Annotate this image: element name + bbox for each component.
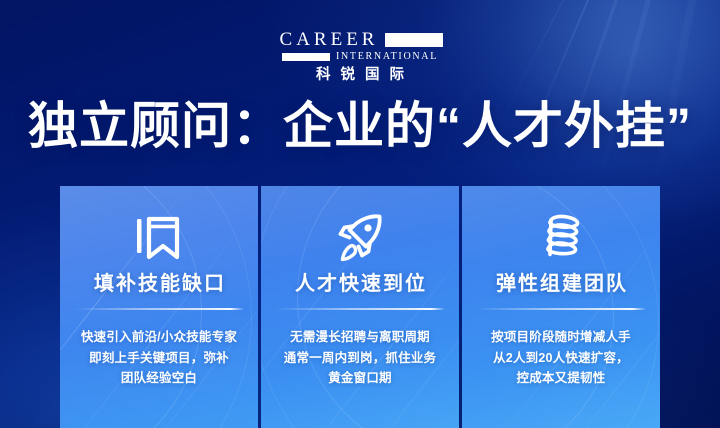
brand-logo: CAREER INTERNATIONAL 科锐国际 <box>0 30 720 83</box>
book-bookmark-icon <box>131 206 187 266</box>
logo-career-text: CAREER <box>277 30 379 49</box>
feature-card-skill-gap[interactable]: 填补技能缺口 快速引入前沿/小众技能专家 即刻上手关键项目，弥补 团队经验空白 <box>60 186 258 428</box>
logo-block-left <box>282 53 330 61</box>
logo-top-row: CAREER <box>277 30 444 49</box>
card-title: 填补技能缺口 <box>92 274 226 294</box>
logo-chinese-name: 科锐国际 <box>306 68 414 83</box>
card-divider <box>275 308 445 310</box>
card-divider <box>74 308 244 310</box>
rocket-icon <box>331 206 389 266</box>
poster-canvas: CAREER INTERNATIONAL 科锐国际 独立顾问：企业的“人才外挂” <box>0 0 720 428</box>
background-light-ray <box>597 0 667 182</box>
card-body-text: 无需漫长招聘与离职周期 通常一周内到岗，抓住业务 黄金窗口期 <box>274 327 446 389</box>
card-title: 弹性组建团队 <box>494 274 628 294</box>
card-body-text: 快速引入前沿/小众技能专家 即刻上手关键项目，弥补 团队经验空白 <box>71 327 247 389</box>
card-title: 人才快速到位 <box>293 274 427 294</box>
feature-card-list: 填补技能缺口 快速引入前沿/小众技能专家 即刻上手关键项目，弥补 团队经验空白 <box>60 186 660 428</box>
logo-second-row: INTERNATIONAL <box>282 52 438 62</box>
page-title: 独立顾问：企业的“人才外挂” <box>0 98 720 154</box>
spring-coil-icon <box>532 206 590 266</box>
feature-card-fast-staffing[interactable]: 人才快速到位 无需漫长招聘与离职周期 通常一周内到岗，抓住业务 黄金窗口期 <box>261 186 459 428</box>
logo-international-text: INTERNATIONAL <box>336 52 438 62</box>
feature-card-flexible-team[interactable]: 弹性组建团队 按项目阶段随时增减人手 从2人到20人快速扩容， 控成本又提韧性 <box>462 186 660 428</box>
card-body-text: 按项目阶段随时增减人手 从2人到20人快速扩容， 控成本又提韧性 <box>481 327 641 389</box>
card-divider <box>476 308 646 310</box>
logo-block-right <box>385 33 443 47</box>
